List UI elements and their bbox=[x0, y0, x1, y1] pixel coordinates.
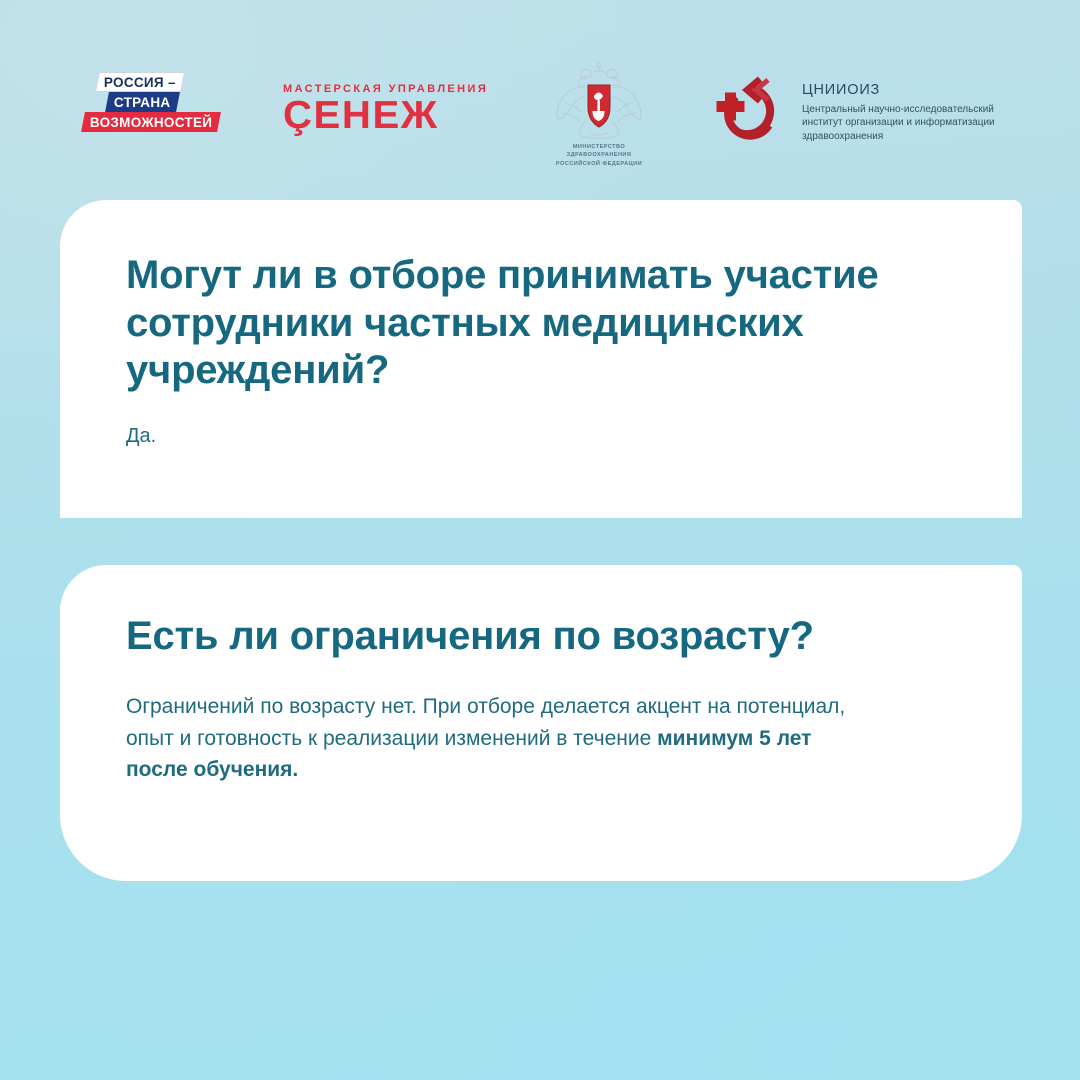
double-headed-eagle-icon bbox=[540, 62, 658, 142]
cniioiz-abbr: ЦНИИОИЗ bbox=[802, 83, 1016, 98]
faq-card-age-limits: Есть ли ограничения по возрасту? Огранич… bbox=[60, 565, 1022, 881]
faq-question-title: Могут ли в отборе принимать участие сотр… bbox=[126, 252, 956, 395]
logo-cniioiz: ЦНИИОИЗ Центральный научно-исследователь… bbox=[716, 73, 1016, 155]
faq-slide: РОССИЯ – СТРАНА ВОЗМОЖНОСТЕЙ МАСТЕРСКАЯ … bbox=[0, 0, 1080, 1080]
rsv-line-1: РОССИЯ – bbox=[95, 72, 185, 92]
logo-senezh: МАСТЕРСКАЯ УПРАВЛЕНИЯ ÇЕНЕЖ bbox=[283, 83, 463, 135]
rsv-line-3-text: ВОЗМОЖНОСТЕЙ bbox=[90, 115, 212, 130]
minzdrav-caption-line-2: ЗДРАВООХРАНЕНИЯ bbox=[540, 151, 658, 159]
cniioiz-text-block: ЦНИИОИЗ Центральный научно-исследователь… bbox=[802, 73, 1016, 143]
logo-rossiya-strana-vozmozhnostey: РОССИЯ – СТРАНА ВОЗМОЖНОСТЕЙ bbox=[83, 72, 233, 134]
faq-answer-text: Да. bbox=[126, 421, 956, 451]
partner-logo-bar: РОССИЯ – СТРАНА ВОЗМОЖНОСТЕЙ МАСТЕРСКАЯ … bbox=[0, 0, 1080, 185]
minzdrav-caption-line-3: РОССИЙСКОЙ ФЕДЕРАЦИИ bbox=[540, 160, 658, 168]
rsv-line-2: СТРАНА bbox=[105, 92, 179, 112]
logo-minzdrav: МИНИСТЕРСТВО ЗДРАВООХРАНЕНИЯ РОССИЙСКОЙ … bbox=[540, 62, 658, 167]
rsv-line-1-text: РОССИЯ – bbox=[104, 75, 176, 90]
faq-question-title: Есть ли ограничения по возрасту? bbox=[126, 613, 956, 661]
faq-answer-plain: Да. bbox=[126, 425, 156, 447]
rsv-line-3: ВОЗМОЖНОСТЕЙ bbox=[81, 112, 221, 132]
faq-answer-text: Ограничений по возрасту нет. При отборе … bbox=[126, 691, 856, 787]
cniioiz-full-name: Центральный научно-исследовательский инс… bbox=[802, 103, 1016, 144]
faq-card-private-clinics: Могут ли в отборе принимать участие сотр… bbox=[60, 200, 1022, 518]
medical-cross-arrow-icon bbox=[716, 75, 790, 145]
minzdrav-caption: МИНИСТЕРСТВО ЗДРАВООХРАНЕНИЯ РОССИЙСКОЙ … bbox=[540, 143, 658, 168]
minzdrav-caption-line-1: МИНИСТЕРСТВО bbox=[540, 143, 658, 151]
senezh-wordmark: ÇЕНЕЖ bbox=[283, 97, 468, 134]
rsv-line-2-text: СТРАНА bbox=[114, 95, 171, 110]
